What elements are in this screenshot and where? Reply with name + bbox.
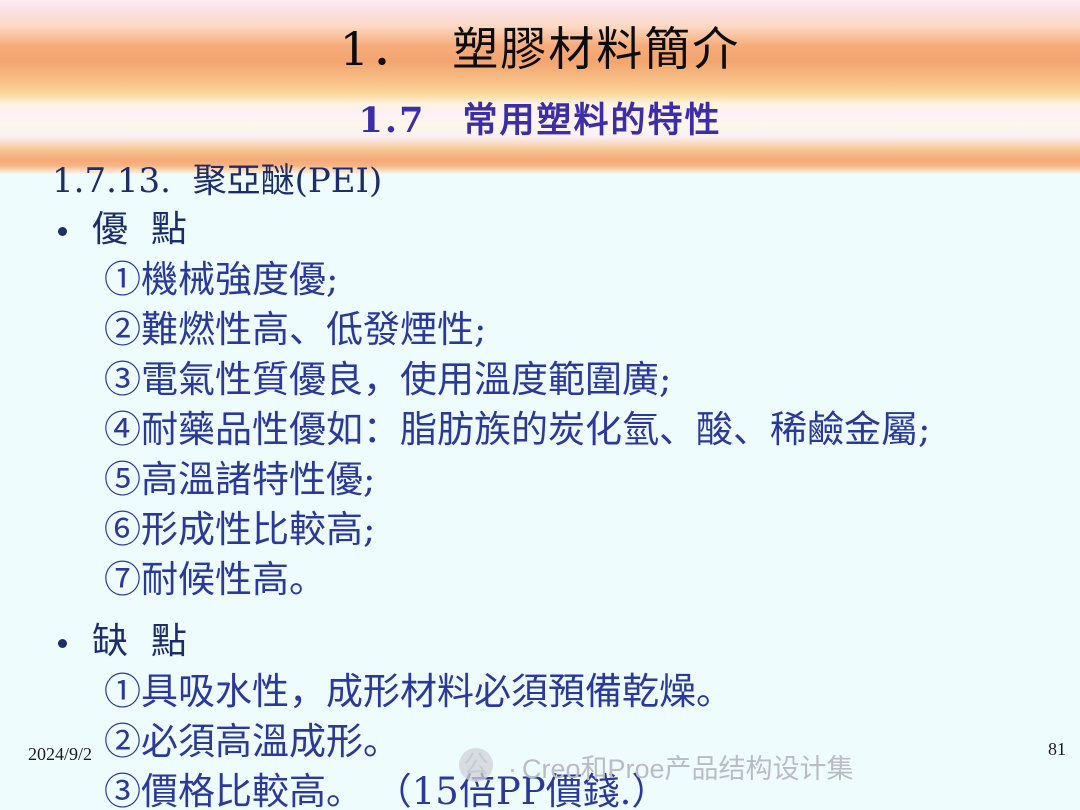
page-number: 81 xyxy=(1048,737,1066,761)
list-item: ③價格比較高。 （15倍PP價錢.） xyxy=(0,767,1080,810)
page-title: 1． 塑膠材料簡介 xyxy=(0,22,1080,76)
section-heading: 1.7.13. 聚亞醚(PEI) xyxy=(52,159,382,203)
content-group-disadvantages: 缺 點 ①具吸水性，成形材料必須預備乾燥。 ②必須高溫成形。 ③價格比較高。 （… xyxy=(0,617,1080,810)
bullet-heading-row: 缺 點 xyxy=(0,617,1080,667)
list-item: ⑥形成性比較高; xyxy=(0,505,1080,555)
list-item: ②難燃性高、低發煙性; xyxy=(0,305,1080,355)
list-item-text: ①具吸水性，成形材料必須預備乾燥。 xyxy=(104,667,733,717)
slide-body: 優 點 ①機械強度優; ②難燃性高、低發煙性; ③電氣性質優良，使用溫度範圍廣;… xyxy=(0,205,1080,810)
list-item: ④耐藥品性優如：脂肪族的炭化氫、酸、稀鹼金屬; xyxy=(0,405,1080,455)
list-item-text: ⑤高溫諸特性優; xyxy=(104,455,375,505)
bullet-heading-label: 缺 點 xyxy=(92,617,187,667)
bullet-dot-icon xyxy=(58,227,67,236)
slide-canvas: 1． 塑膠材料簡介 1.7 常用塑料的特性 1.7.13. 聚亞醚(PEI) 優… xyxy=(0,0,1080,810)
group-spacer xyxy=(0,605,1080,617)
list-item: ⑤高溫諸特性優; xyxy=(0,455,1080,505)
bullet-dot-icon xyxy=(58,639,67,648)
list-item: ⑦耐候性高。 xyxy=(0,555,1080,605)
list-item-text: ①機械強度優; xyxy=(104,255,338,305)
list-item-text: ③電氣性質優良，使用溫度範圍廣; xyxy=(104,355,671,405)
content-group-advantages: 優 點 ①機械強度優; ②難燃性高、低發煙性; ③電氣性質優良，使用溫度範圍廣;… xyxy=(0,205,1080,605)
footer-date: 2024/9/2 xyxy=(28,742,92,766)
bullet-heading-row: 優 點 xyxy=(0,205,1080,255)
list-item-text: ③價格比較高。 （15倍PP價錢.） xyxy=(104,767,668,810)
list-item-text: ④耐藥品性優如：脂肪族的炭化氫、酸、稀鹼金屬; xyxy=(104,405,930,455)
list-item-text: ②必須高溫成形。 xyxy=(104,717,400,767)
watermark-badge-label: 公 xyxy=(462,750,490,780)
list-item-text: ⑥形成性比較高; xyxy=(104,505,375,555)
list-item: ②必須高溫成形。 xyxy=(0,717,1080,767)
list-item-text: ⑦耐候性高。 xyxy=(104,555,326,605)
list-item: ①具吸水性，成形材料必須預備乾燥。 xyxy=(0,667,1080,717)
list-item: ①機械強度優; xyxy=(0,255,1080,305)
bullet-heading-label: 優 點 xyxy=(92,205,187,255)
list-item-text: ②難燃性高、低發煙性; xyxy=(104,305,486,355)
page-subtitle: 1.7 常用塑料的特性 xyxy=(0,100,1080,142)
list-item: ③電氣性質優良，使用溫度範圍廣; xyxy=(0,355,1080,405)
